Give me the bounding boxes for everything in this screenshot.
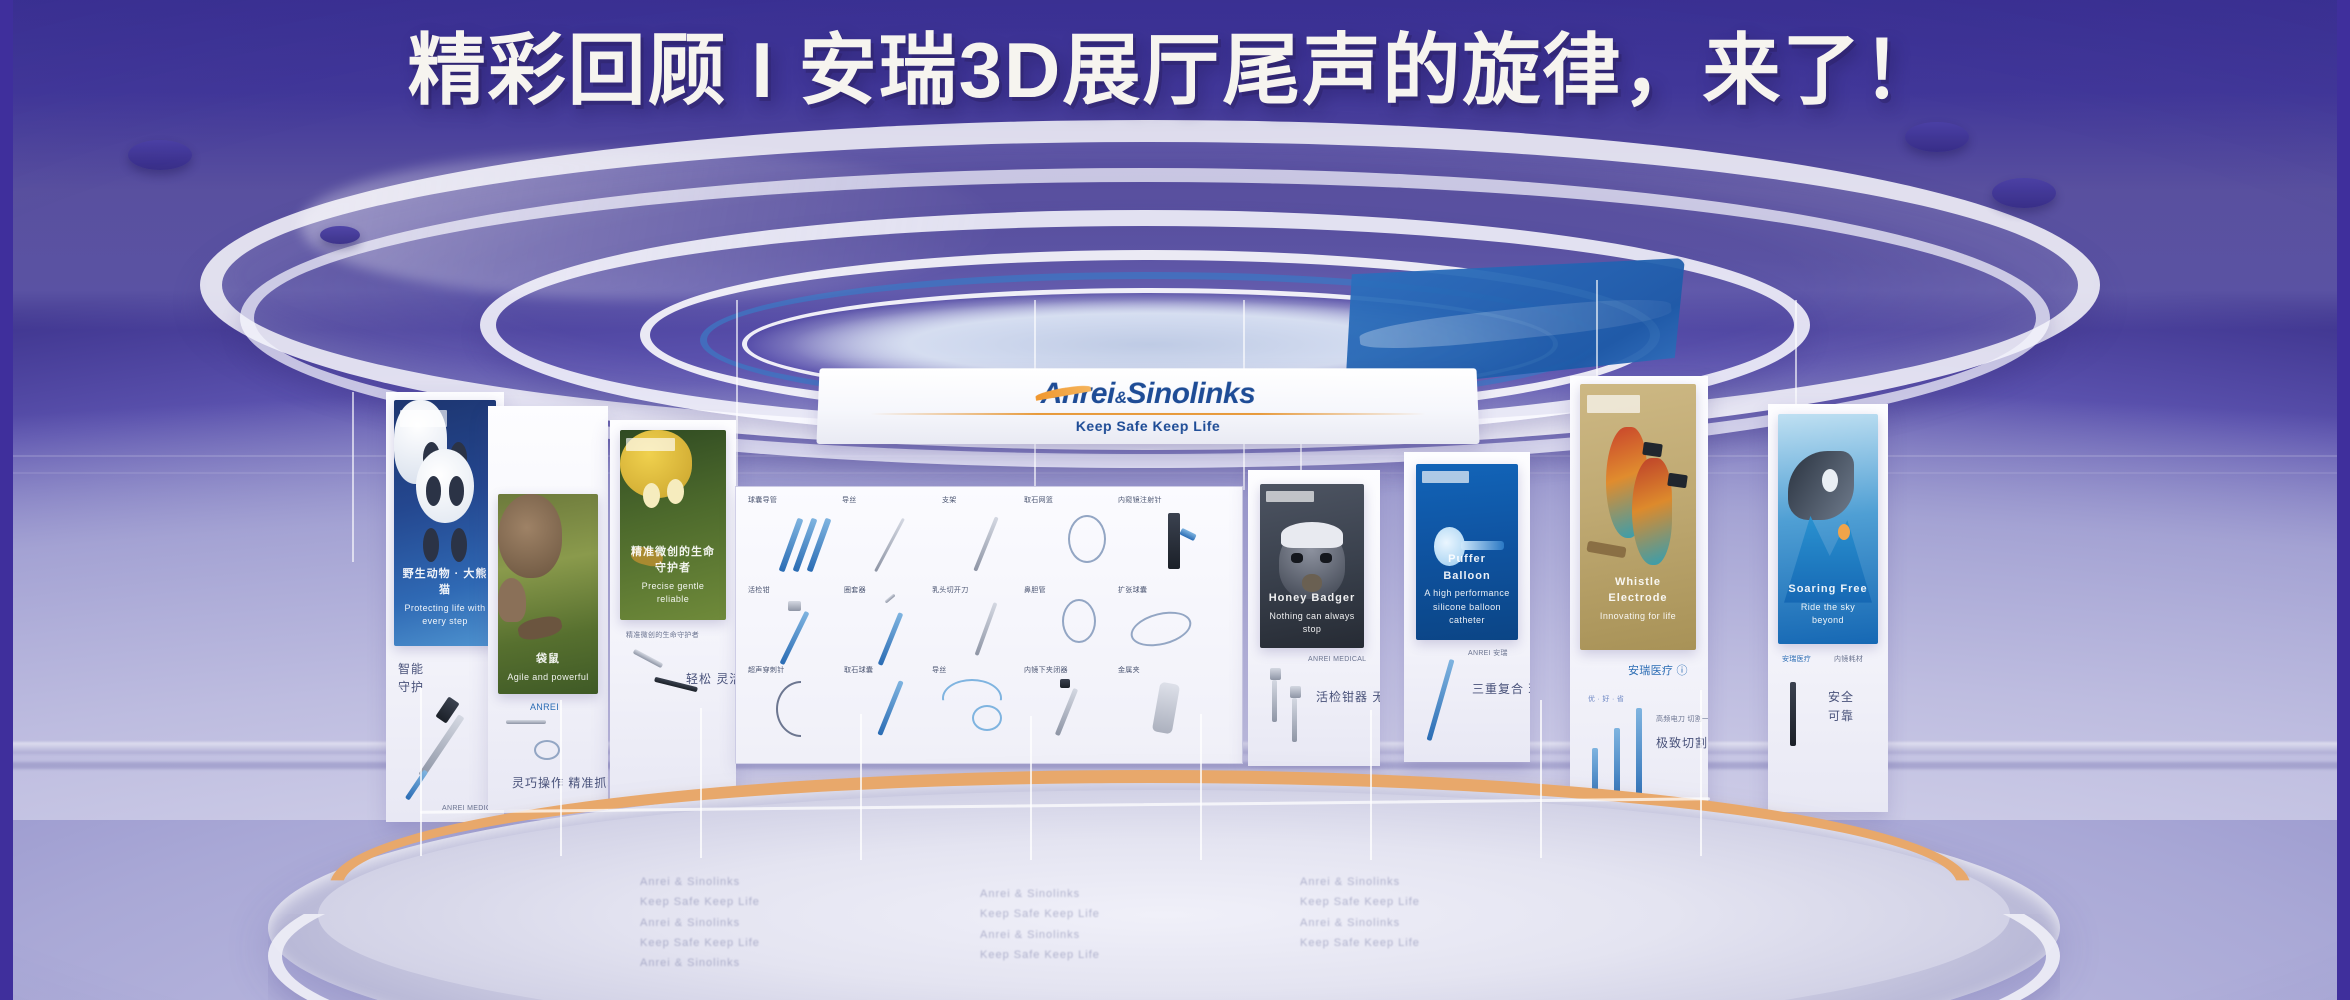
panel-balloon-sublabel: ANREI 安瑞 <box>1468 648 1508 658</box>
bar-instrument-3 <box>1636 708 1642 806</box>
badger-eye-right-icon <box>1320 553 1331 563</box>
panel-balloon[interactable]: Puffer BalloonA high performance silicon… <box>1404 452 1530 762</box>
product-label: 导丝 <box>932 665 947 675</box>
railing-post-4 <box>860 714 862 860</box>
product-label: 乳头切开刀 <box>932 585 969 595</box>
product-label: 鼻胆管 <box>1024 585 1046 595</box>
bird-left-beak-icon <box>1642 441 1662 457</box>
poster-brandmark <box>626 438 675 451</box>
right-border-strip <box>2337 0 2350 1000</box>
floor-text-block-1: Anrei & Sinolinks Keep Safe Keep Life An… <box>640 872 760 974</box>
railing-post-2 <box>560 700 562 856</box>
brand-logo-board: Anrei&Sinolinks Keep Safe Keep Life <box>816 368 1479 444</box>
railing-post-5 <box>1030 716 1032 860</box>
frog-eye-right-icon <box>667 479 684 504</box>
kangaroo-body-icon <box>498 494 562 578</box>
product-wire-kangaroo <box>506 720 546 724</box>
poster-brandmark <box>1266 491 1314 502</box>
floor-text-block-2: Anrei & Sinolinks Keep Safe Keep Life An… <box>980 884 1100 965</box>
product-label: 导丝 <box>842 495 857 505</box>
ceiling-spotlight-4 <box>320 226 360 244</box>
frog-eye-left-icon <box>643 483 660 508</box>
railing-post-9 <box>1700 690 1702 856</box>
product-label: 取石网篮 <box>1024 495 1053 505</box>
brand-logo-text: Anrei&Sinolinks <box>1041 379 1256 409</box>
panel-badger-sublabel: ANREI MEDICAL <box>1308 656 1366 663</box>
brand-name-part2: Sinolinks <box>1127 377 1256 410</box>
poster-kangaroo[interactable]: 袋鼠Agile and powerful <box>498 494 598 694</box>
poster-badger-caption: Honey BadgerNothing can always stop <box>1267 590 1356 637</box>
panel-eagle[interactable]: Soaring FreeRide the sky beyond 安瑞医疗 内镜耗… <box>1768 404 1888 812</box>
railing-post-8 <box>1540 700 1542 858</box>
panel-badger[interactable]: Honey BadgerNothing can always stop ANRE… <box>1248 470 1380 766</box>
poster-panda[interactable]: 野生动物 · 大熊猫Protecting life with every ste… <box>394 400 496 646</box>
product-grid-wall[interactable]: 球囊导管 导丝 支架 取石网篮 内窥镜注射针 活检钳 圈套器 <box>735 486 1243 764</box>
ceiling-highlight <box>300 150 1000 300</box>
railing-post-3 <box>700 708 702 858</box>
panel-frog[interactable]: 精准微创的生命守护者Precise gentle reliable 精准微创的生… <box>610 420 736 804</box>
side-stats-label: 优 · 好 · 省 <box>1588 694 1624 704</box>
badger-eye-left-icon <box>1291 553 1302 563</box>
product-label: 活检钳 <box>748 585 770 595</box>
product-label: 圈套器 <box>844 585 866 595</box>
bird-branch-icon <box>1586 540 1627 557</box>
hanging-rod-3 <box>736 300 738 490</box>
product-label: 金属夹 <box>1118 665 1140 675</box>
poster-birds[interactable]: Whistle ElectrodeInnovating for life <box>1580 384 1696 650</box>
brand-ampersand: & <box>1115 388 1127 407</box>
product-label: 内窥镜注射针 <box>1118 495 1162 505</box>
product-forceps-jaw <box>788 601 801 611</box>
panda-eye-left-icon <box>426 476 441 506</box>
product-clip-shaft <box>1055 688 1078 736</box>
floor-text-block-3: Anrei & Sinolinks Keep Safe Keep Life An… <box>1300 872 1420 953</box>
product-stent <box>973 516 998 571</box>
product-stone-balloon <box>877 680 903 736</box>
hanging-rod-1 <box>352 392 354 562</box>
product-needle-tip <box>1179 528 1196 541</box>
product-balloon-catheter <box>1427 659 1455 741</box>
poster-brandmark <box>1422 471 1469 483</box>
product-handle-panda <box>405 770 428 801</box>
kangaroo-tail-icon <box>516 614 563 643</box>
eagle-wing-icon <box>1788 451 1854 520</box>
panel-kangaroo-brand: ANREI <box>530 702 559 712</box>
railing-post-6 <box>1200 714 1202 860</box>
panel-birds-brand: 安瑞医疗 ⓘ <box>1628 662 1688 678</box>
hanging-rod-8 <box>1795 300 1797 420</box>
product-basket <box>1068 515 1106 563</box>
product-nasal-loop <box>1062 599 1096 643</box>
exhibition-hall-banner: 野生动物 · 大熊猫Protecting life with every ste… <box>0 0 2350 1000</box>
poster-eagle-caption: Soaring FreeRide the sky beyond <box>1785 581 1871 628</box>
bird-right-icon <box>1632 458 1671 564</box>
poster-eagle[interactable]: Soaring FreeRide the sky beyond <box>1778 414 1878 644</box>
product-snare-shaft <box>878 612 904 666</box>
product-knife <box>975 602 998 656</box>
product-wire <box>874 518 905 572</box>
poster-frog[interactable]: 精准微创的生命守护者Precise gentle reliable <box>620 430 726 620</box>
product-label: 球囊导管 <box>748 495 777 505</box>
panel-eagle-brand: 安瑞医疗 <box>1782 654 1811 664</box>
panel-frog-label: 轻松 灵活 安全 释放 <box>686 670 736 688</box>
panda-arm-right-icon <box>451 528 467 562</box>
poster-badger[interactable]: Honey BadgerNothing can always stop <box>1260 484 1364 648</box>
product-label: 扩张球囊 <box>1118 585 1147 595</box>
panel-panda[interactable]: 野生动物 · 大熊猫Protecting life with every ste… <box>386 392 504 822</box>
product-label: 支架 <box>942 495 957 505</box>
page-title: 精彩回顾 I 安瑞3D展厅尾声的旋律，来了！ <box>0 28 2350 112</box>
product-usneedle <box>776 681 826 737</box>
panel-balloon-label: 三重复合 球囊平滑 <box>1472 680 1530 698</box>
panel-badger-label: 活检钳器 无惧阻力 <box>1316 688 1380 706</box>
product-badger-jaw-2 <box>1290 686 1301 698</box>
product-clip-head <box>1060 679 1070 688</box>
poster-brandmark <box>400 410 447 427</box>
product-label: 内镜下夹闭器 <box>1024 665 1068 675</box>
poster-frog-caption: 精准微创的生命守护者Precise gentle reliable <box>627 544 718 607</box>
brand-underline <box>871 412 1426 414</box>
panel-frog-headline: 精准微创的生命守护者 <box>626 630 699 640</box>
panel-kangaroo[interactable]: 袋鼠Agile and powerful ANREI 灵巧操作 精准抓取 <box>488 406 608 810</box>
railing-post-1 <box>420 688 422 856</box>
panel-eagle-label: 安全可靠 <box>1828 688 1854 726</box>
railing-post-7 <box>1370 710 1372 860</box>
product-metal-clip <box>1152 682 1180 735</box>
kangaroo-head-icon <box>498 578 526 622</box>
product-arm-frog <box>633 649 664 668</box>
left-border-strip <box>0 0 13 1000</box>
product-badger-shaft-2 <box>1292 698 1297 742</box>
poster-balloon-caption: Puffer BalloonA high performance silicon… <box>1423 551 1511 628</box>
product-eagle-shaft <box>1790 682 1796 746</box>
poster-brandmark <box>1587 395 1640 414</box>
panel-eagle-sublabel: 内镜耗材 <box>1834 654 1863 664</box>
poster-balloon[interactable]: Puffer BalloonA high performance silicon… <box>1416 464 1518 640</box>
product-curve-loop <box>972 705 1002 731</box>
product-loop-kangaroo <box>534 740 560 760</box>
ceiling-spotlight-1 <box>128 140 192 170</box>
brand-tagline: Keep Safe Keep Life <box>1076 417 1221 433</box>
poster-kangaroo-caption: 袋鼠Agile and powerful <box>505 651 591 684</box>
poster-birds-caption: Whistle ElectrodeInnovating for life <box>1588 574 1688 624</box>
product-dilation-balloon <box>1127 606 1195 652</box>
product-shaft-panda <box>418 714 464 778</box>
badger-cap-icon <box>1281 522 1343 548</box>
panda-head-icon <box>416 449 473 523</box>
ceiling-spotlight-3 <box>1992 178 2056 208</box>
panda-arm-left-icon <box>423 528 439 562</box>
product-snare-tip <box>884 593 895 603</box>
ceiling-spotlight-2 <box>1905 122 1969 152</box>
product-badger-shaft-1 <box>1272 680 1277 722</box>
product-forceps-shaft <box>780 611 810 665</box>
poster-panda-caption: 野生动物 · 大熊猫Protecting life with every ste… <box>401 566 489 629</box>
product-label: 超声穿刺针 <box>748 665 785 675</box>
product-badger-jaw-1 <box>1270 668 1281 680</box>
product-label: 取石球囊 <box>844 665 873 675</box>
balloon-stem-icon <box>1461 541 1504 550</box>
panel-birds[interactable]: Whistle ElectrodeInnovating for life 安瑞医… <box>1570 376 1708 852</box>
product-needle <box>1168 513 1180 569</box>
